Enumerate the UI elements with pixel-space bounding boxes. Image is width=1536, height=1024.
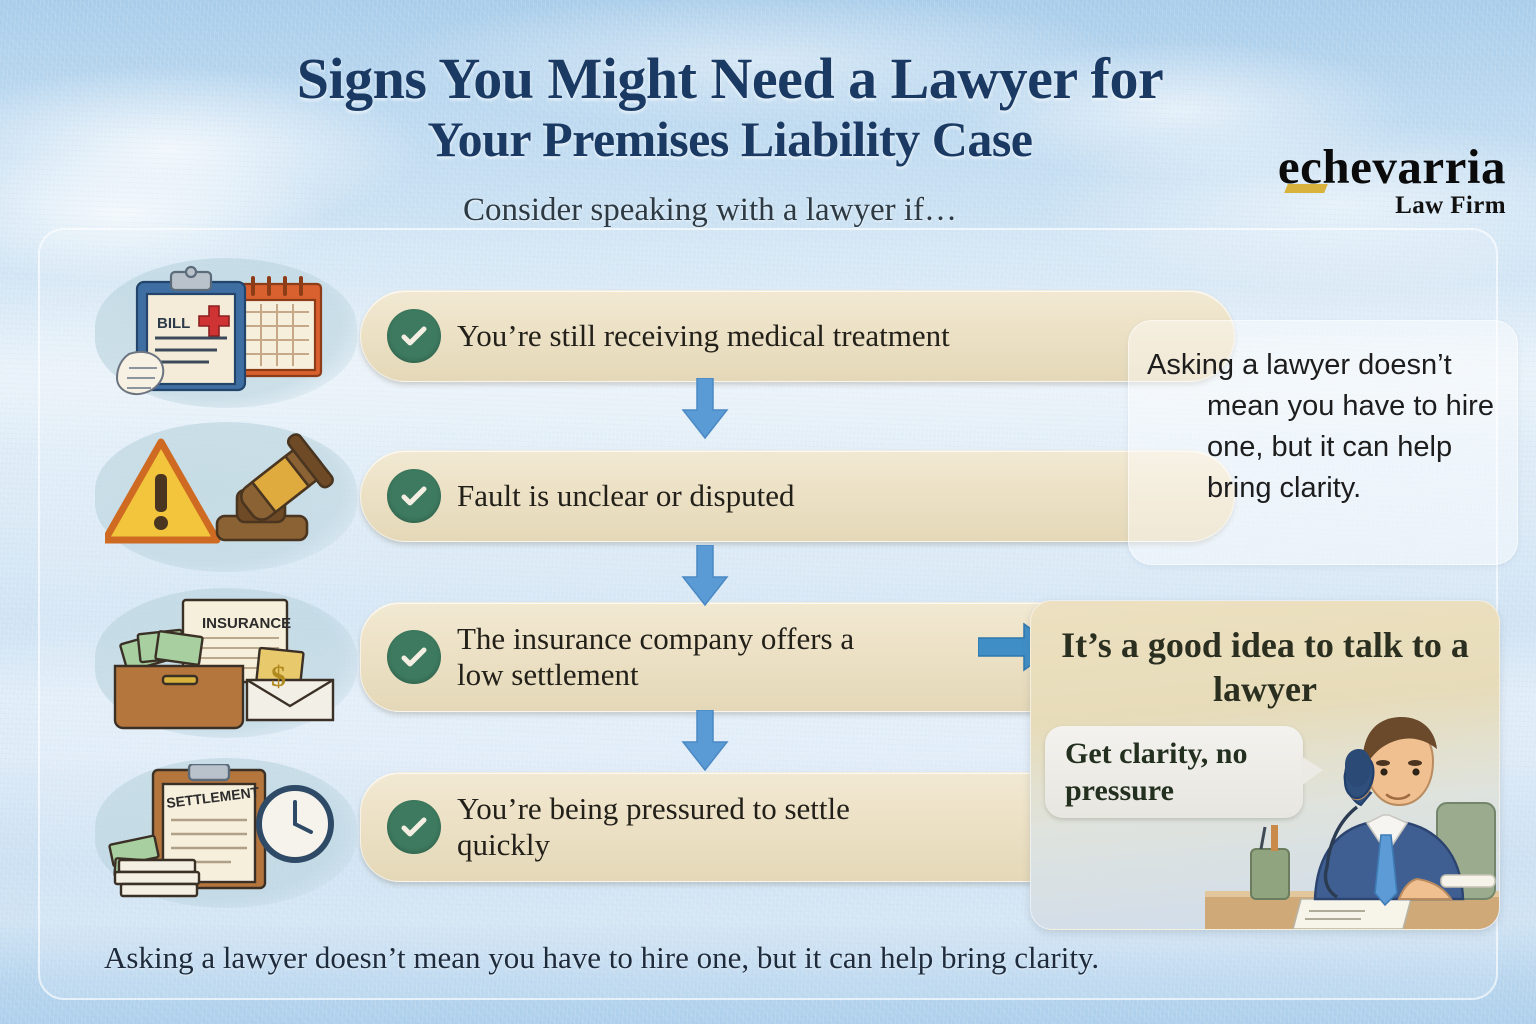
insurance-briefcase-money-icon: INSURANCE $ bbox=[105, 594, 347, 732]
step-1-label: You’re still receiving medical treatment bbox=[361, 318, 974, 354]
warning-triangle-gavel-icon bbox=[105, 428, 347, 566]
arrow-down-icon-3 bbox=[678, 710, 732, 777]
sidenote-text: Asking a lawyer doesn’t mean you have to… bbox=[1129, 321, 1517, 509]
arrow-down-icon-1 bbox=[678, 378, 732, 445]
check-circle-icon bbox=[387, 800, 441, 854]
check-circle-icon bbox=[387, 309, 441, 363]
medical-bill-clipboard-calendar-icon: BILL bbox=[105, 264, 347, 402]
cta-headline: It’s a good idea to talk to a lawyer bbox=[1031, 601, 1499, 711]
step-3-label: The insurance company offers a low settl… bbox=[361, 621, 921, 693]
step-1-pill[interactable]: You’re still receiving medical treatment bbox=[360, 290, 1235, 382]
svg-text:BILL: BILL bbox=[157, 315, 190, 332]
step-4-label: You’re being pressured to settle quickly bbox=[361, 791, 931, 863]
check-circle-icon bbox=[387, 469, 441, 523]
check-circle-icon bbox=[387, 630, 441, 684]
arrow-down-icon-2 bbox=[678, 545, 732, 612]
step-3-pill[interactable]: The insurance company offers a low settl… bbox=[360, 602, 1085, 712]
sidenote-panel: Asking a lawyer doesn’t mean you have to… bbox=[1128, 320, 1518, 565]
settlement-clipboard-clock-money-icon: SETTLEMENT bbox=[105, 764, 347, 902]
step-4-pill[interactable]: You’re being pressured to settle quickly bbox=[360, 772, 1075, 882]
cta-panel[interactable]: It’s a good idea to talk to a lawyer Get… bbox=[1030, 600, 1500, 930]
svg-text:INSURANCE: INSURANCE bbox=[202, 615, 291, 632]
footer-note: Asking a lawyer doesn’t mean you have to… bbox=[104, 940, 1099, 976]
lawyer-on-phone-at-desk-illustration bbox=[1205, 699, 1500, 929]
svg-text:$: $ bbox=[271, 660, 286, 693]
step-2-pill[interactable]: Fault is unclear or disputed bbox=[360, 450, 1235, 542]
